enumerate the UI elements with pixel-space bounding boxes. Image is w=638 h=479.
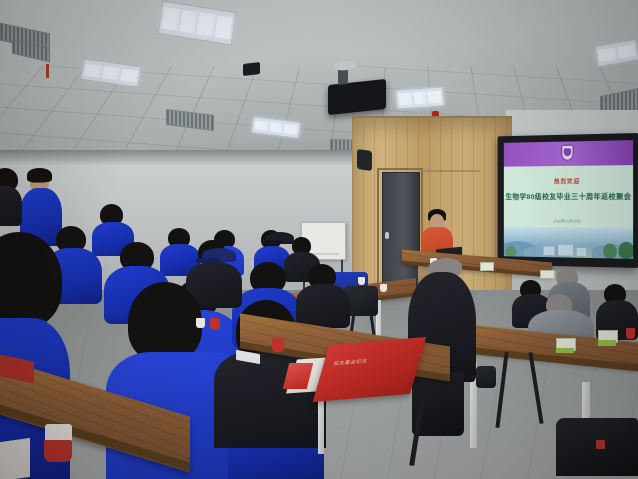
- slide-tree: [619, 242, 634, 259]
- red-tote-text: 校友聚会纪念: [333, 353, 415, 367]
- person-head: [128, 282, 202, 362]
- ceiling-fixture: [243, 62, 260, 76]
- glasses-icon: [31, 179, 46, 183]
- slide-building: [558, 245, 573, 256]
- red-cup: [210, 318, 220, 330]
- university-crest-icon: [560, 144, 573, 161]
- white-cup: [380, 284, 387, 292]
- wall-rail: [420, 170, 480, 172]
- slide-tree: [506, 246, 517, 257]
- backpack-tag: [596, 440, 605, 449]
- slide-building: [577, 248, 586, 256]
- classroom-photo: 热烈欢迎 生物学80级校友毕业三十周年返校聚会 2019年11月16日: [0, 0, 638, 479]
- white-bag-floor: [0, 438, 30, 479]
- door-handle-icon[interactable]: [385, 232, 389, 239]
- chair-back[interactable]: [476, 366, 496, 388]
- projector-icon: [328, 79, 386, 115]
- slide-tree: [603, 243, 616, 258]
- person-body: [0, 186, 22, 226]
- red-cup-holder: [44, 440, 72, 462]
- red-cup: [626, 328, 635, 339]
- ceiling-light-panel: [158, 1, 237, 46]
- cap-brim: [196, 258, 220, 263]
- ceiling-light-panel: [594, 39, 638, 68]
- cap-brim: [262, 240, 282, 244]
- snack-box-lid: [598, 340, 616, 346]
- slide-date-text: 2019年11月16日: [504, 218, 633, 225]
- snack-box: [540, 270, 555, 279]
- slide-main-title: 生物学80级校友毕业三十周年返校聚会: [504, 191, 633, 202]
- person-body: [296, 284, 350, 328]
- wall-speaker-icon: [357, 149, 372, 171]
- red-cup: [272, 338, 284, 352]
- snack-box: [480, 262, 494, 271]
- snack-box-lid: [556, 348, 574, 353]
- red-tote-bag: 校友聚会纪念: [313, 337, 427, 402]
- slide-welcome-text: 热烈欢迎: [504, 176, 633, 186]
- slide-campus-photo: [504, 227, 633, 259]
- slide-content: 热烈欢迎 生物学80级校友毕业三十周年返校聚会 2019年11月16日: [504, 140, 633, 259]
- white-cup: [196, 318, 205, 328]
- ceiling-marker: [46, 64, 49, 78]
- projection-screen: 热烈欢迎 生物学80级校友毕业三十周年返校聚会 2019年11月16日: [498, 133, 638, 268]
- white-cup: [358, 277, 365, 285]
- slide-building: [543, 246, 554, 255]
- wall-shadow: [0, 150, 360, 166]
- ceiling-light-panel: [395, 86, 445, 109]
- slide-header-band: [504, 140, 633, 167]
